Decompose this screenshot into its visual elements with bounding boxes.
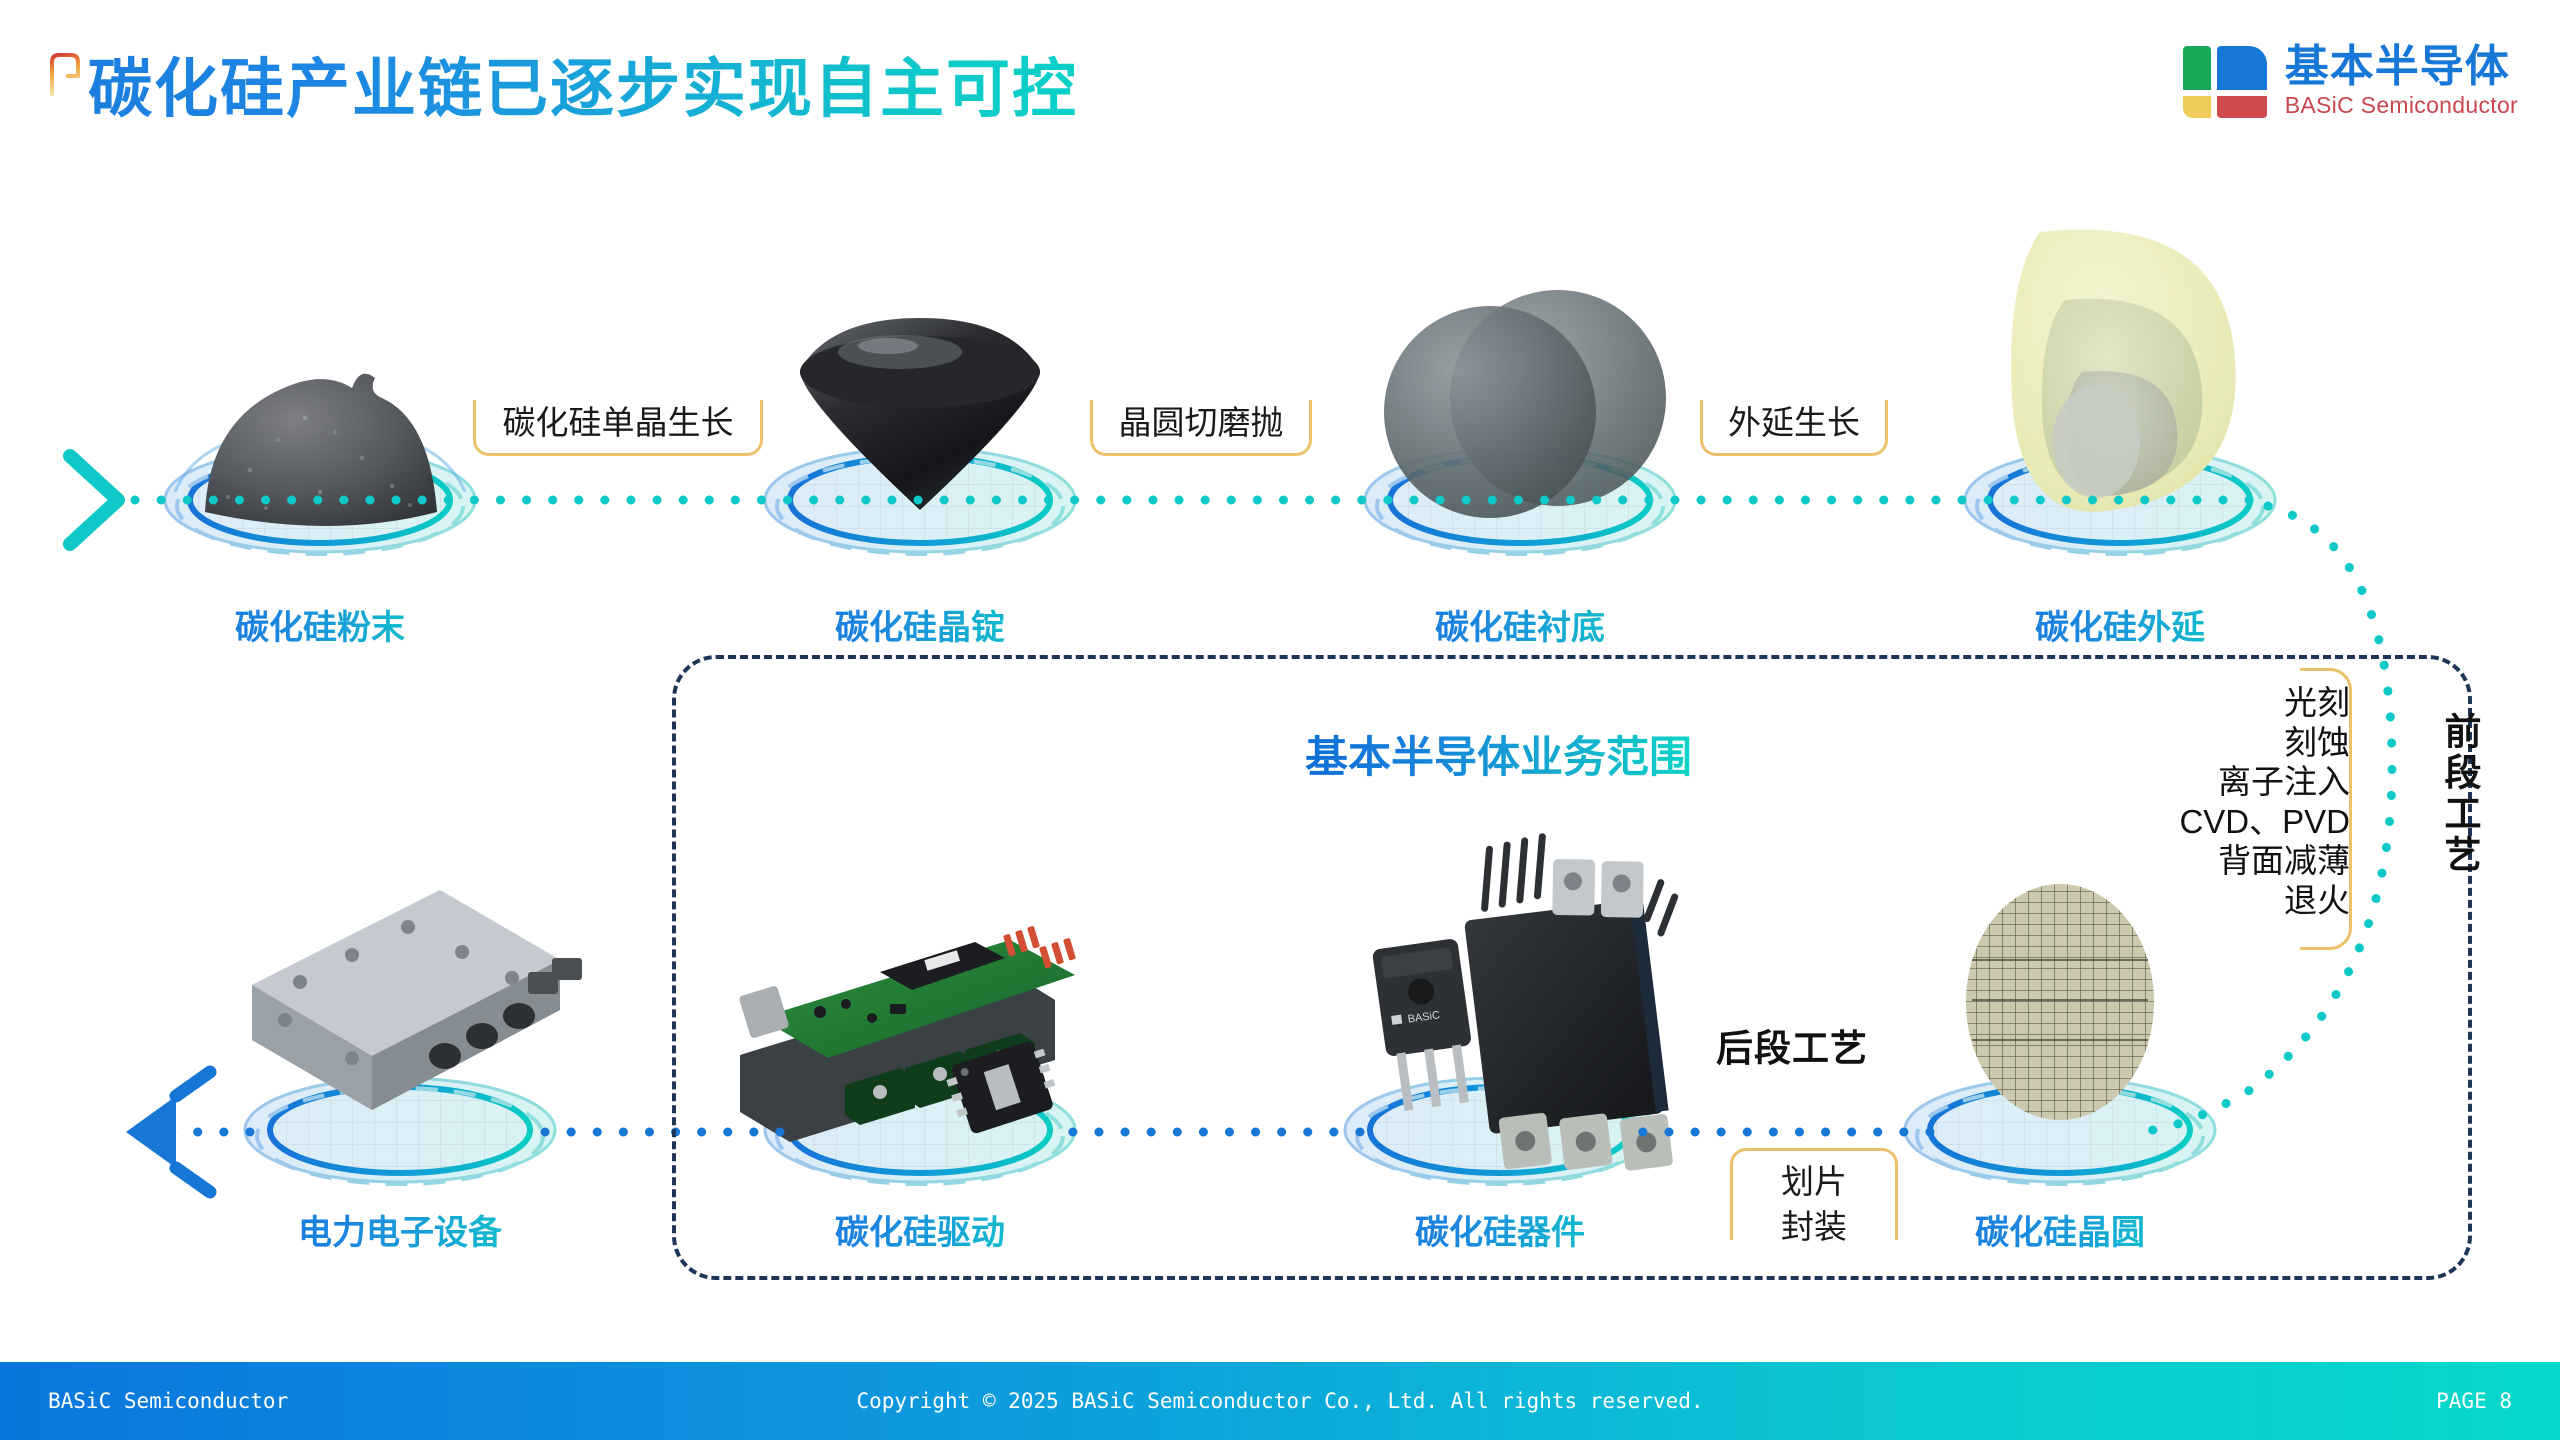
stage-label-substrate: 碳化硅衬底 xyxy=(1370,600,1670,649)
footer-brand: BASiC Semiconductor xyxy=(48,1389,288,1413)
stage-artwork-substrate xyxy=(1365,290,1675,554)
packaging-label-dicing: 划片 xyxy=(1730,1155,1898,1203)
process-label-wafer-cmp: 晶圆切磨抛 xyxy=(1090,396,1312,444)
footer-page-number: PAGE 8 xyxy=(2436,1389,2512,1413)
stage-label-ingot: 碳化硅晶锭 xyxy=(770,600,1070,649)
front-end-process-label: 前段工艺 xyxy=(2432,712,2486,876)
process-label-epi-growth: 外延生长 xyxy=(1700,396,1888,444)
footer-copyright: Copyright © 2025 BASiC Semiconductor Co.… xyxy=(856,1389,1703,1413)
stage-artwork-equipment xyxy=(245,890,582,1184)
chevron-right-icon xyxy=(70,456,118,544)
back-end-process-label: 后段工艺 xyxy=(1716,1018,1868,1072)
packaging-label-packaging: 封装 xyxy=(1730,1200,1898,1248)
stage-artwork-ingot xyxy=(765,318,1075,554)
stage-label-powder: 碳化硅粉末 xyxy=(170,600,470,649)
stage-label-epitaxy: 碳化硅外延 xyxy=(1970,600,2270,649)
stage-label-equipment: 电力电子设备 xyxy=(230,1205,570,1254)
process-label-crystal-growth: 碳化硅单晶生长 xyxy=(473,396,763,444)
slide-footer: BASiC Semiconductor Copyright © 2025 BAS… xyxy=(0,1362,2560,1440)
stage-artwork-epitaxy xyxy=(1965,230,2275,554)
front-end-bracket xyxy=(2300,668,2352,950)
business-scope-title: 基本半导体业务范围 xyxy=(1305,723,1692,785)
stage-artwork-powder xyxy=(165,374,475,554)
